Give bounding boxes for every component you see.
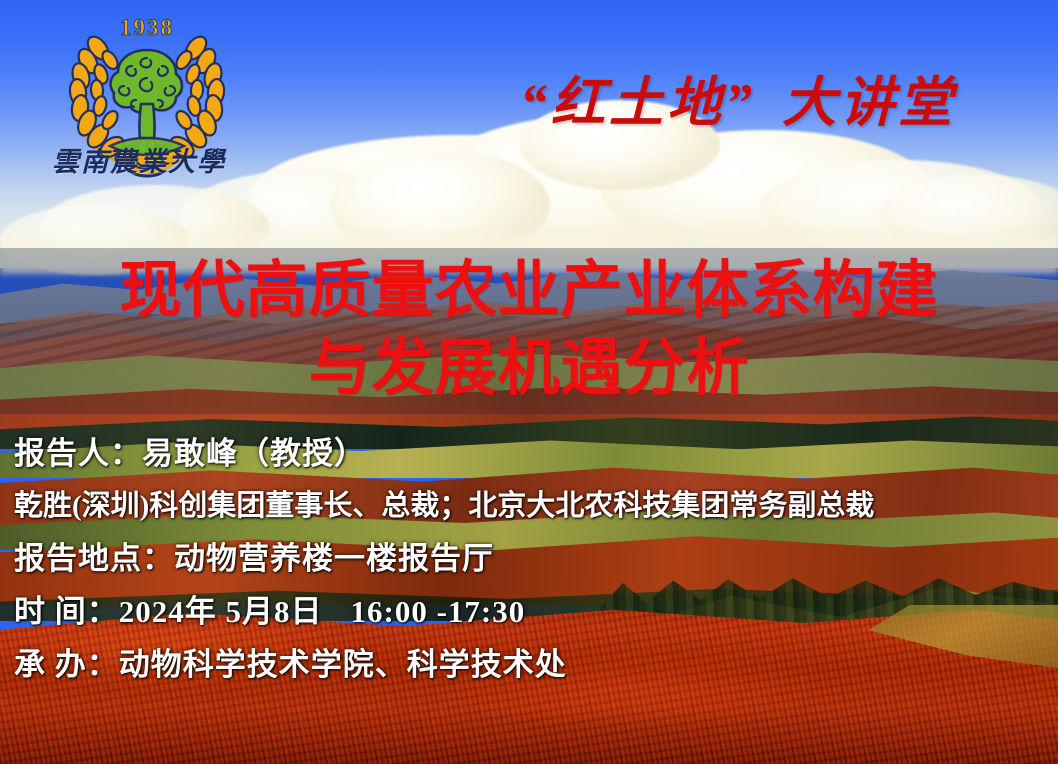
host-label: 承 办： — [14, 647, 119, 682]
venue-value: 动物营养楼一楼报告厅 — [174, 541, 494, 576]
series-suffix: 大讲堂 — [782, 73, 956, 133]
series-name: 红土地 — [551, 73, 725, 133]
host-value: 动物科学技术学院、科学技术处 — [119, 647, 567, 682]
university-name-text: 雲南農業大學 — [52, 140, 252, 186]
venue-line: 报告地点：动物营养楼一楼报告厅 — [14, 532, 1050, 585]
time-date: 2024年 5月8日 — [119, 594, 323, 629]
event-poster: 1938 — [0, 0, 1058, 764]
host-line: 承 办：动物科学技术学院、科学技术处 — [14, 638, 1050, 692]
time-line: 时 间：2024年 5月8日16:00 -17:30 — [14, 585, 1050, 638]
series-quote-close: ” — [725, 73, 756, 133]
speaker-name: 易敢峰（教授） — [142, 436, 366, 471]
time-label: 时 间： — [14, 594, 119, 629]
event-details-block: 报告人：易敢峰（教授） 乾胜(深圳)科创集团董事长、总裁；北京大北农科技集团常务… — [14, 428, 1050, 692]
lecture-series-title: “红土地”大讲堂 — [520, 58, 1020, 148]
speaker-label: 报告人： — [14, 436, 142, 471]
poster-main-title: 现代高质量农业产业体系构建 与发展机遇分析 — [0, 252, 1058, 408]
time-range: 16:00 -17:30 — [351, 594, 526, 629]
speaker-line: 报告人：易敢峰（教授） — [14, 428, 1050, 480]
title-line-1: 现代高质量农业产业体系构建 — [0, 252, 1058, 330]
logo-year-text: 1938 — [120, 15, 174, 40]
series-quote-open: “ — [520, 73, 551, 133]
affiliation-line: 乾胜(深圳)科创集团董事长、总裁；北京大北农科技集团常务副总裁 — [14, 480, 1050, 532]
venue-label: 报告地点： — [14, 541, 174, 576]
title-line-2: 与发展机遇分析 — [0, 330, 1058, 408]
